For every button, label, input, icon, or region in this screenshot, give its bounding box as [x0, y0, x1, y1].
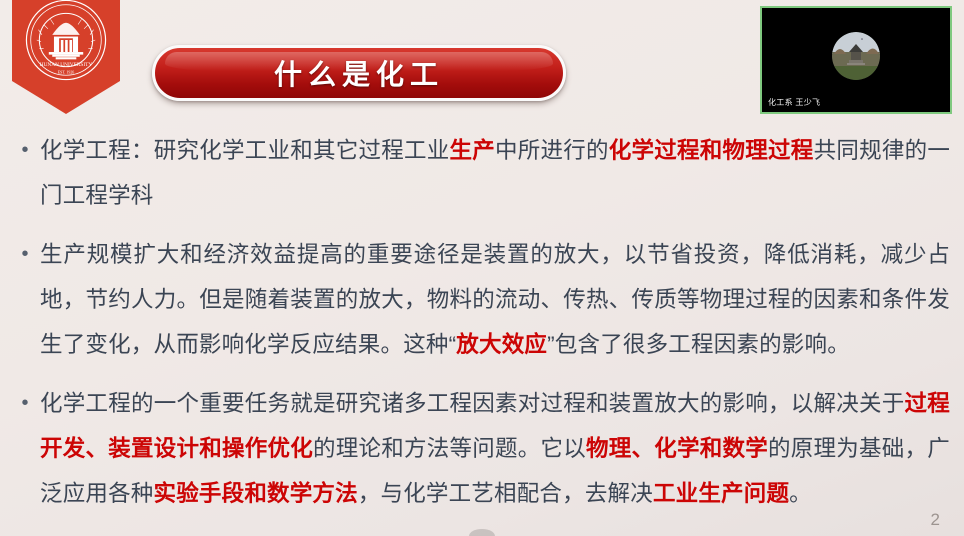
- bullet-marker: •: [10, 381, 40, 425]
- bullet-marker: •: [10, 232, 40, 276]
- university-seal-icon: HUNAN UNIVERSITY EST. 1926: [23, 0, 109, 83]
- body-text: 化学工程：研究化学工业和其它过程工业: [40, 138, 450, 163]
- body-text: 中所进行的: [495, 138, 609, 163]
- bullet-item: • 生产规模扩大和经济效益提高的重要途径是装置的放大，以节省投资，降低消耗，减少…: [0, 232, 964, 367]
- body-text: 。: [789, 481, 812, 506]
- body-text: 的理论和方法等问题。它以: [313, 436, 586, 461]
- bullet-item: • 化学工程的一个重要任务就是研究诸多工程因素对过程和装置放大的影响，以解决关于…: [0, 381, 964, 516]
- page-number: 2: [931, 510, 940, 530]
- body-text: 化学工程的一个重要任务就是研究诸多工程因素对过程和装置放大的影响，以解决关于: [40, 391, 905, 416]
- avatar: [832, 32, 880, 80]
- highlighted-text: 放大效应: [456, 332, 547, 357]
- body-text: ，与化学工艺相配合，去解决: [358, 481, 653, 506]
- bullet-paragraph: 化学工程：研究化学工业和其它过程工业生产中所进行的化学过程和物理过程共同规律的一…: [40, 128, 950, 218]
- video-participant-label: 化工系 王少飞: [768, 97, 820, 108]
- highlighted-text: 实验手段和数学方法: [154, 481, 358, 506]
- slide-title-banner: 什么是化工: [152, 45, 566, 101]
- bullet-item: • 化学工程：研究化学工业和其它过程工业生产中所进行的化学过程和物理过程共同规律…: [0, 128, 964, 218]
- body-text: ”包含了很多工程因素的影响。: [547, 332, 850, 357]
- seal-established-text: EST. 1926: [58, 70, 75, 75]
- highlighted-text: 工业生产问题: [653, 481, 789, 506]
- highlighted-text: 物理、化学和数学: [586, 436, 768, 461]
- logo-ribbon: HUNAN UNIVERSITY EST. 1926: [12, 0, 120, 114]
- page-title: 什么是化工: [274, 53, 444, 93]
- bullet-paragraph: 生产规模扩大和经济效益提高的重要途径是装置的放大，以节省投资，降低消耗，减少占地…: [40, 232, 950, 367]
- slide-body: • 化学工程：研究化学工业和其它过程工业生产中所进行的化学过程和物理过程共同规律…: [0, 128, 964, 530]
- bullet-paragraph: 化学工程的一个重要任务就是研究诸多工程因素对过程和装置放大的影响，以解决关于过程…: [40, 381, 950, 516]
- seal-english-text: HUNAN UNIVERSITY: [40, 62, 93, 68]
- presentation-slide: HUNAN UNIVERSITY EST. 1926 什么是化工: [0, 0, 964, 536]
- video-feed-panel[interactable]: 化工系 王少飞: [760, 6, 952, 114]
- highlighted-text: 生产: [450, 138, 496, 163]
- bullet-marker: •: [10, 128, 40, 172]
- slide-edge-marker: [469, 529, 495, 536]
- highlighted-text: 化学过程和物理过程: [609, 138, 814, 163]
